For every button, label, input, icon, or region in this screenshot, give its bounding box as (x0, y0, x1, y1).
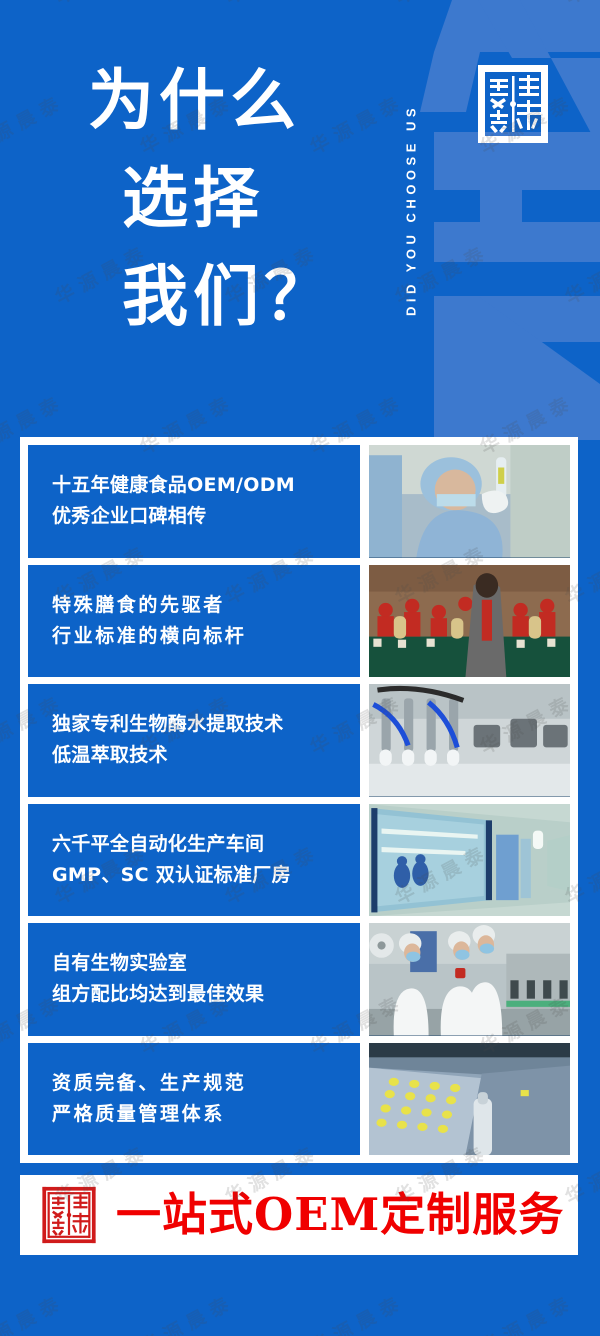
feature-image-staff-white-coats (369, 923, 570, 1036)
watermark-text: 华源晨泰 (475, 1287, 580, 1336)
feature-line-1: 自有生物实验室 (52, 948, 360, 979)
feature-image-filling-machine (369, 684, 570, 797)
watermark-text: 华源晨泰 (0, 1287, 69, 1336)
feature-line-2: 低温萃取技术 (52, 740, 360, 771)
feature-image-cleanroom-corridor (369, 804, 570, 917)
brand-stamp-red-icon (36, 1181, 102, 1249)
headline-line-1: 为什么 (88, 52, 388, 150)
list-item[interactable]: 十五年健康食品OEM/ODM 优秀企业口碑相传 (28, 445, 570, 558)
list-item[interactable]: 资质完备、生产规范 严格质量管理体系 (28, 1043, 570, 1156)
watermark-text: 华源晨泰 (305, 1287, 410, 1336)
page-title: 为什么 选择 我们？ (88, 52, 388, 346)
feature-line-1: 六千平全自动化生产车间 (52, 829, 360, 860)
features-list: 十五年健康食品OEM/ODM 优秀企业口碑相传 (28, 445, 570, 1155)
vertical-english-subtitle: DID YOU CHOOSE US (398, 10, 424, 410)
feature-line-1: 十五年健康食品OEM/ODM (52, 470, 360, 501)
feature-line-1: 特殊膳食的先驱者 (52, 590, 360, 621)
list-item[interactable]: 独家专利生物酶水提取技术 低温萃取技术 (28, 684, 570, 797)
feature-line-1: 独家专利生物酶水提取技术 (52, 709, 360, 740)
feature-line-2: 组方配比均达到最佳效果 (52, 979, 360, 1010)
feature-text-block: 六千平全自动化生产车间 GMP、SC 双认证标准厂房 (28, 804, 360, 917)
brand-stamp-logo (473, 58, 553, 150)
feature-text-block: 资质完备、生产规范 严格质量管理体系 (28, 1043, 360, 1156)
feature-line-2: GMP、SC 双认证标准厂房 (52, 860, 360, 891)
feature-text-block: 特殊膳食的先驱者 行业标准的横向标杆 (28, 565, 360, 678)
cta-banner-text: 一站式OEM定制服务 (116, 1189, 564, 1241)
feature-line-1: 资质完备、生产规范 (52, 1068, 360, 1099)
bottom-cta-banner[interactable]: 一站式OEM定制服务 (20, 1175, 578, 1255)
feature-line-2: 优秀企业口碑相传 (52, 501, 360, 532)
list-item[interactable]: 六千平全自动化生产车间 GMP、SC 双认证标准厂房 (28, 804, 570, 917)
features-card-frame: 十五年健康食品OEM/ODM 优秀企业口碑相传 (20, 437, 578, 1163)
feature-text-block: 自有生物实验室 组方配比均达到最佳效果 (28, 923, 360, 1036)
feature-text-block: 十五年健康食品OEM/ODM 优秀企业口碑相传 (28, 445, 360, 558)
feature-text-block: 独家专利生物酶水提取技术 低温萃取技术 (28, 684, 360, 797)
feature-image-blister-packaging (369, 1043, 570, 1156)
feature-image-lab-technician (369, 445, 570, 558)
feature-image-conference-hall (369, 565, 570, 678)
headline-line-3: 我们？ (88, 248, 388, 346)
feature-line-2: 严格质量管理体系 (52, 1099, 360, 1130)
watermark-text: 华源晨泰 (135, 1287, 240, 1336)
feature-line-2: 行业标准的横向标杆 (52, 621, 360, 652)
poster-root: 为什么 选择 我们？ DID YOU CHOOSE US (0, 0, 600, 1336)
list-item[interactable]: 自有生物实验室 组方配比均达到最佳效果 (28, 923, 570, 1036)
headline-line-2: 选择 (88, 150, 388, 248)
list-item[interactable]: 特殊膳食的先驱者 行业标准的横向标杆 (28, 565, 570, 678)
poster-header: 为什么 选择 我们？ DID YOU CHOOSE US (0, 0, 600, 437)
